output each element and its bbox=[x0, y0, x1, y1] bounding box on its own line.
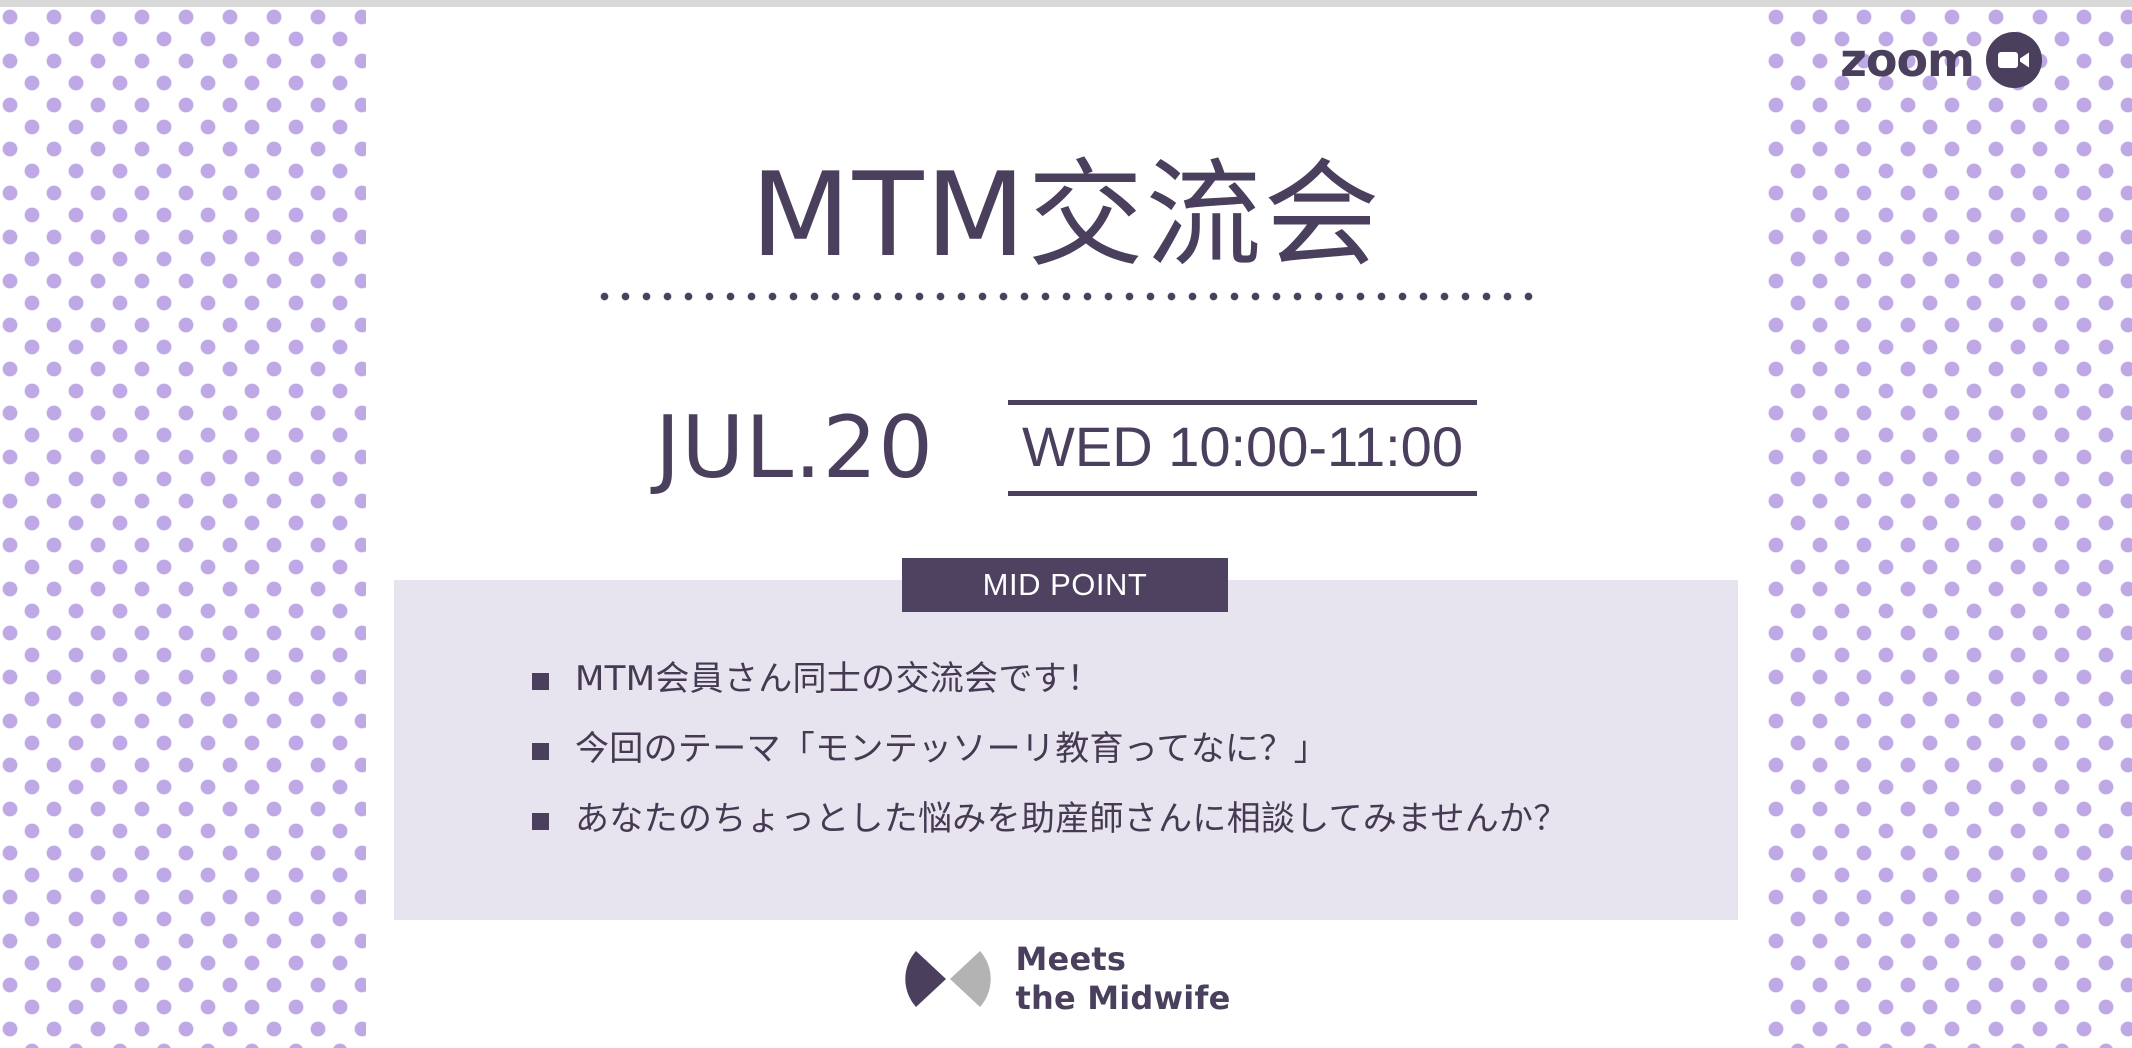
zoom-wordmark: zoom bbox=[1840, 37, 1974, 83]
window-top-strip bbox=[0, 0, 2132, 7]
bowtie-logo-icon bbox=[902, 942, 994, 1016]
mid-point-badge: MID POINT bbox=[902, 558, 1228, 612]
slide-title: MTM交流会 bbox=[366, 148, 1766, 285]
event-time: WED 10:00-11:00 bbox=[1022, 419, 1463, 475]
square-bullet-icon bbox=[532, 673, 549, 690]
brand-name: Meets the Midwife bbox=[1016, 940, 1231, 1018]
zoom-logo: zoom bbox=[1840, 32, 2042, 88]
brand-name-line2: the Midwife bbox=[1016, 979, 1231, 1018]
bullet-list: MTM会員さん同士の交流会です！ 今回のテーマ「モンテッソーリ教育ってなに？」 … bbox=[394, 655, 1738, 865]
bullet-text: 今回のテーマ「モンテッソーリ教育ってなに？」 bbox=[575, 725, 1328, 774]
video-camera-icon bbox=[1986, 32, 2042, 88]
brand-name-line1: Meets bbox=[1016, 940, 1231, 979]
list-item: MTM会員さん同士の交流会です！ bbox=[394, 655, 1738, 725]
date-time-row: JUL.20 WED 10:00-11:00 bbox=[366, 388, 1766, 508]
mid-point-badge-label: MID POINT bbox=[983, 567, 1148, 603]
polka-dot-band-left bbox=[0, 7, 366, 1048]
slide-canvas: zoom MTM交流会 JUL.20 WED 10:00-11:00 MID P… bbox=[0, 0, 2132, 1048]
title-dotted-underline bbox=[600, 292, 1540, 301]
square-bullet-icon bbox=[532, 743, 549, 760]
list-item: 今回のテーマ「モンテッソーリ教育ってなに？」 bbox=[394, 725, 1738, 795]
bullet-text: MTM会員さん同士の交流会です！ bbox=[575, 655, 1101, 704]
event-time-box: WED 10:00-11:00 bbox=[1008, 400, 1477, 496]
bullet-text: あなたのちょっとした悩みを助産師さんに相談してみませんか？ bbox=[575, 795, 1568, 844]
title-block: MTM交流会 bbox=[366, 148, 1766, 285]
square-bullet-icon bbox=[532, 813, 549, 830]
brand-footer: Meets the Midwife bbox=[366, 940, 1766, 1018]
polka-dot-band-right bbox=[1766, 7, 2132, 1048]
event-date: JUL.20 bbox=[655, 405, 934, 491]
list-item: あなたのちょっとした悩みを助産師さんに相談してみませんか？ bbox=[394, 795, 1738, 865]
